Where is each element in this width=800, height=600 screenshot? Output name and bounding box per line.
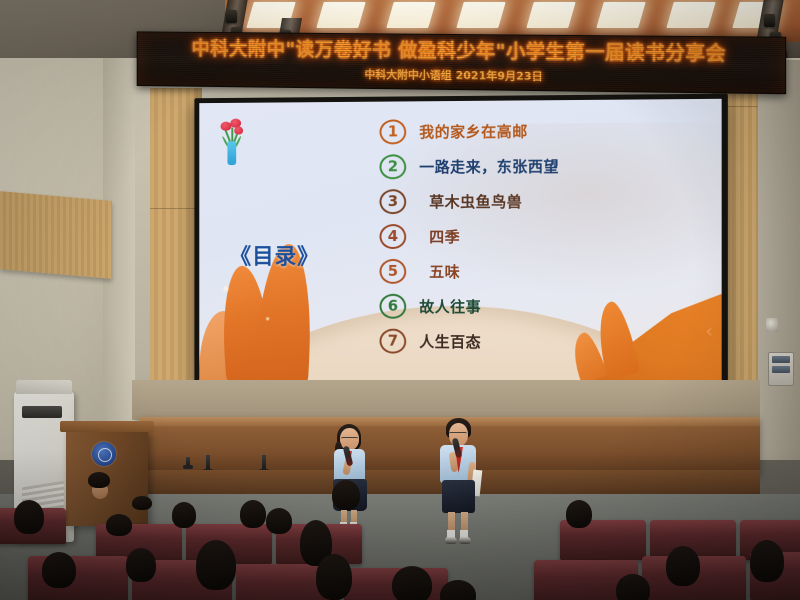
toc-label: 草木虫鱼鸟兽 xyxy=(429,191,522,212)
right-wall xyxy=(756,60,800,460)
toc-item: 4 四季 xyxy=(380,223,696,249)
toc-label: 五味 xyxy=(429,261,460,282)
desk-microphone-icon xyxy=(206,455,210,470)
ceiling-light-panel xyxy=(596,2,645,28)
stage-back-wall xyxy=(132,380,760,420)
toc-number-badge: 6 xyxy=(380,294,407,319)
toc-item: 1 我的家乡在高邮 xyxy=(380,117,696,145)
uniform-shorts xyxy=(442,480,475,513)
led-banner: 中科大附中"读万卷好书 做盈科少年"小学生第一届读书分享会 中科大附中小语组 2… xyxy=(137,31,786,94)
toc-item: 6 故人往事 xyxy=(380,293,696,320)
toc-number-badge: 5 xyxy=(380,259,407,284)
podium-top xyxy=(60,421,154,432)
ceiling-light-panel xyxy=(666,2,715,28)
school-crest-icon xyxy=(92,442,116,466)
ceiling-light-panel xyxy=(456,2,505,28)
audience-head xyxy=(14,500,44,534)
shoe xyxy=(445,537,457,544)
flower-bloom xyxy=(234,126,243,134)
toc-label: 四季 xyxy=(429,226,460,247)
slide-content: ‹ 《目录》 1 我的家乡在高邮 2 xyxy=(199,99,721,388)
audience-head xyxy=(316,554,352,600)
toc-number-badge: 2 xyxy=(380,154,407,179)
shoe xyxy=(459,537,471,544)
toc-number-badge: 4 xyxy=(380,224,407,249)
glasses-icon xyxy=(449,432,467,436)
toc-label: 人生百态 xyxy=(419,331,481,352)
glasses-icon xyxy=(341,437,358,441)
wall-speaker-icon xyxy=(766,318,778,332)
auditorium-photo: 中科大附中"读万卷好书 做盈科少年"小学生第一届读书分享会 中科大附中小语组 2… xyxy=(0,0,800,600)
audience-head xyxy=(196,540,236,590)
audience-head xyxy=(266,508,292,534)
audience-head xyxy=(88,472,110,488)
ac-top-cover xyxy=(16,380,72,394)
spotlight-icon xyxy=(764,14,775,27)
slide-next-arrow-icon[interactable]: ‹ xyxy=(705,323,713,342)
ac-vent xyxy=(22,406,62,418)
audience-head xyxy=(616,574,650,600)
audience-head xyxy=(172,502,196,528)
banner-title: 中科大附中"读万卷好书 做盈科少年"小学生第一届读书分享会 xyxy=(192,39,726,63)
ceiling-light-panel xyxy=(316,2,365,28)
audience-head xyxy=(126,548,156,582)
desk-microphone-icon xyxy=(262,455,266,470)
toc-number-badge: 7 xyxy=(380,329,407,354)
banner-subtitle: 中科大附中小语组 2021年9月23日 xyxy=(365,66,543,84)
ceiling-light-panel xyxy=(526,2,575,28)
toc-label: 故人往事 xyxy=(419,296,481,317)
toc-label: 我的家乡在高邮 xyxy=(419,121,528,143)
audience-head xyxy=(132,496,152,510)
toc-item: 2 一路走来，东张西望 xyxy=(380,152,696,180)
flame-highlight xyxy=(221,285,229,293)
toc-label: 一路走来，东张西望 xyxy=(419,156,559,178)
toc-item: 3 草木虫鱼鸟兽 xyxy=(380,188,696,215)
audience-head xyxy=(106,514,132,536)
flower-vase-icon xyxy=(216,115,249,167)
toc-number-badge: 1 xyxy=(380,120,407,145)
wall-control-panel[interactable] xyxy=(768,352,794,386)
slide-heading: 《目录》 xyxy=(230,239,320,271)
wood-wall-band xyxy=(0,191,112,279)
audience-head xyxy=(42,552,76,588)
table-of-contents: 1 我的家乡在高邮 2 一路走来，东张西望 3 草木虫鱼鸟兽 4 四季 5 xyxy=(380,117,696,356)
toc-number-badge: 3 xyxy=(380,189,407,214)
flame-highlight xyxy=(265,316,270,321)
audience-head xyxy=(666,546,700,586)
toc-item: 7 人生百态 xyxy=(380,328,696,356)
toc-item: 5 五味 xyxy=(380,259,696,286)
spotlight-icon xyxy=(226,10,237,23)
audience-head xyxy=(750,540,784,582)
vase-body xyxy=(228,141,237,165)
audience-head xyxy=(240,500,266,528)
ceiling-light-panel xyxy=(386,2,435,28)
audience-head xyxy=(566,500,592,528)
presenter-right xyxy=(428,418,492,556)
desk-nameplate xyxy=(186,457,190,466)
audience-head xyxy=(392,566,432,600)
projection-screen[interactable]: ‹ 《目录》 1 我的家乡在高邮 2 xyxy=(194,94,727,395)
audience-head xyxy=(332,480,360,510)
